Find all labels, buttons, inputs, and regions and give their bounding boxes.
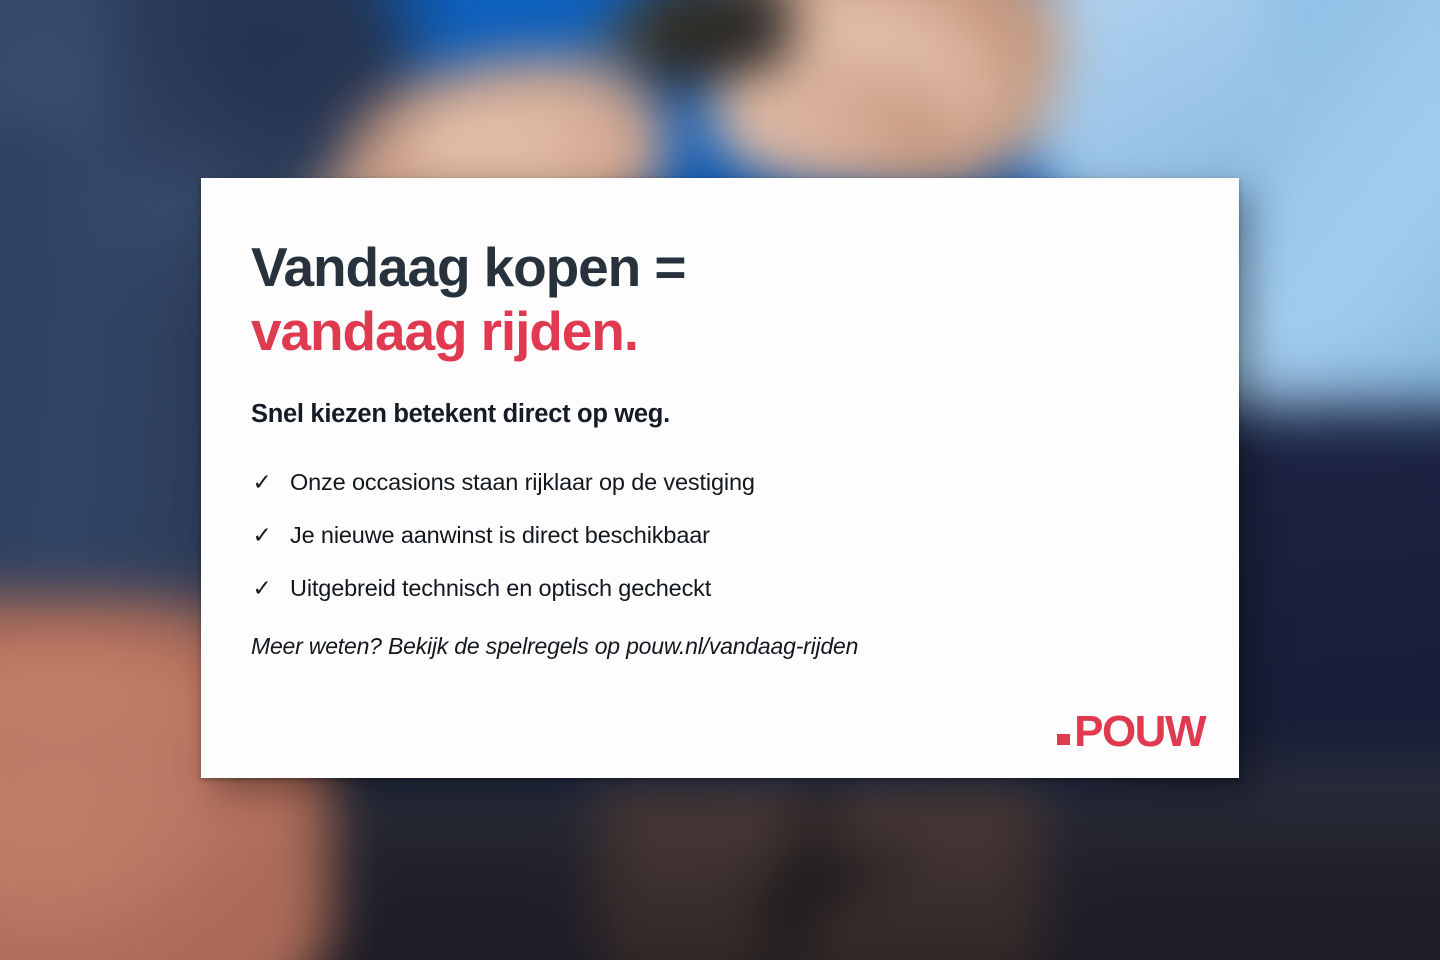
promo-banner: Vandaag kopen = vandaag rijden. Snel kie… — [0, 0, 1440, 960]
list-item-label: Je nieuwe aanwinst is direct beschikbaar — [290, 522, 710, 549]
list-item: ✓ Onze occasions staan rijklaar op de ve… — [251, 469, 1177, 496]
list-item-label: Onze occasions staan rijklaar op de vest… — [290, 469, 755, 496]
list-item: ✓ Uitgebreid technisch en optisch gechec… — [251, 575, 1177, 602]
content-card: Vandaag kopen = vandaag rijden. Snel kie… — [201, 178, 1239, 778]
check-icon: ✓ — [251, 578, 273, 601]
subheadline: Snel kiezen betekent direct op weg. — [251, 400, 1177, 429]
benefit-list: ✓ Onze occasions staan rijklaar op de ve… — [251, 469, 1177, 602]
list-item: ✓ Je nieuwe aanwinst is direct beschikba… — [251, 522, 1177, 549]
photo-key-highlight — [710, 0, 770, 10]
check-icon: ✓ — [251, 525, 273, 548]
headline-line-2: vandaag rijden. — [251, 300, 1177, 364]
check-icon: ✓ — [251, 472, 273, 495]
headline: Vandaag kopen = vandaag rijden. — [251, 236, 1177, 364]
logo-dot-icon — [1057, 734, 1070, 745]
list-item-label: Uitgebreid technisch en optisch gecheckt — [290, 575, 711, 602]
footnote-link[interactable]: Meer weten? Bekijk de spelregels op pouw… — [251, 633, 1177, 660]
logo-wordmark: POUW — [1074, 712, 1205, 752]
pouw-logo[interactable]: POUW — [1057, 712, 1205, 752]
card-content: Vandaag kopen = vandaag rijden. Snel kie… — [201, 178, 1239, 660]
headline-line-1: Vandaag kopen = — [251, 236, 1177, 300]
